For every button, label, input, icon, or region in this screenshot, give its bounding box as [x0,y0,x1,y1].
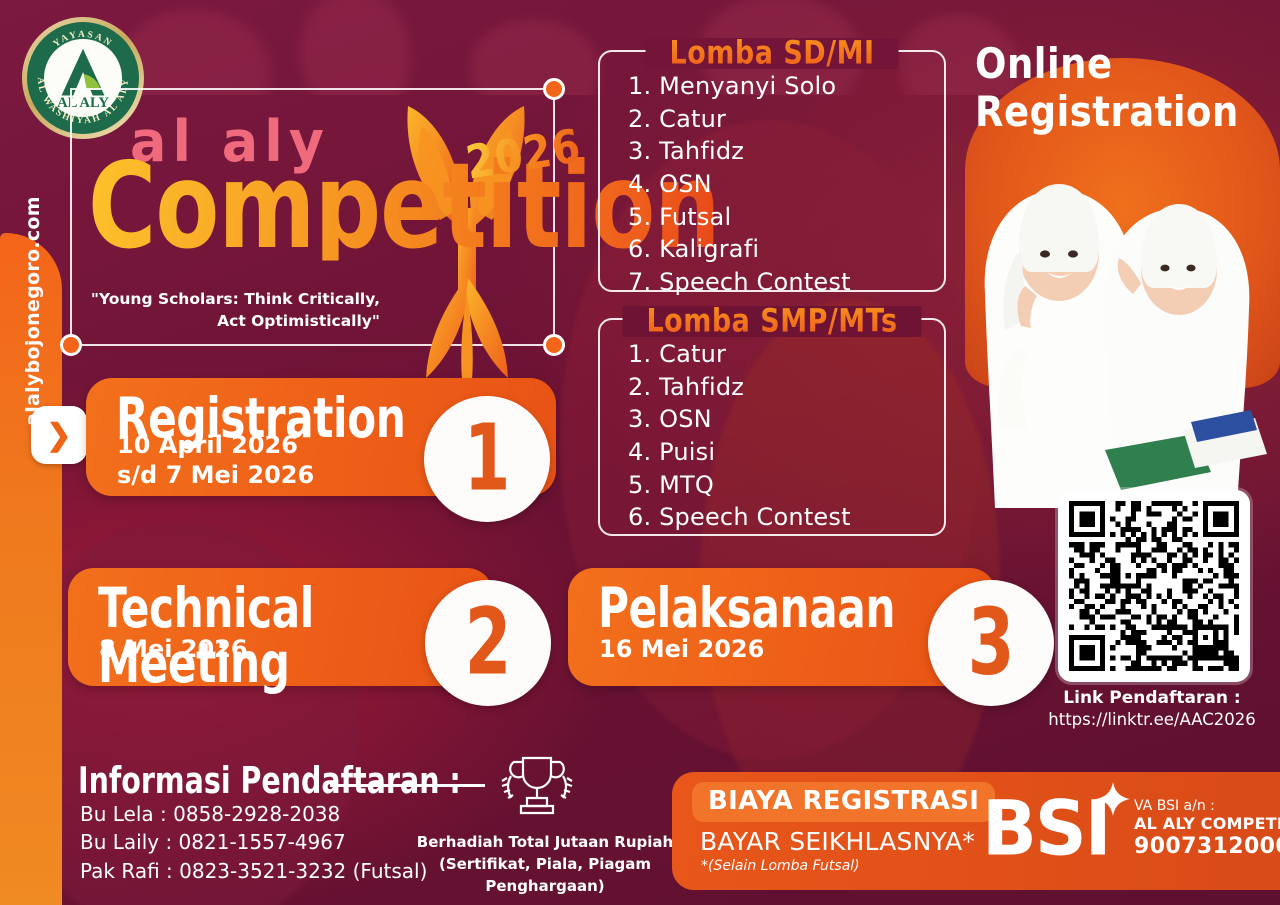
step-number: 2 [465,597,512,689]
step-number: 1 [464,413,511,505]
lomba-sd-heading: Lomba SD/MI [656,35,889,72]
timeline-date-line-2: s/d 7 Mei 2026 [117,460,314,490]
timeline-date-line-1: 8 Mei 2026 [99,634,248,664]
timeline-date-line-1: 16 Mei 2026 [599,634,764,664]
lomba-smp-heading: Lomba SMP/MTs [632,303,911,340]
bsi-logo: BSI [982,790,1110,866]
contact-row: Bu Lela : 0858-2928-2038 [80,800,427,828]
prize-line-1: Berhadiah Total Jutaan Rupiah [400,832,690,854]
list-item: 4. OSN [628,168,944,201]
payment-note: *(Selain Lomba Futsal) [701,858,860,874]
prize-note: Berhadiah Total Jutaan Rupiah (Sertifika… [400,832,690,897]
tagline-line-1: "Young Scholars: Think Critically, [80,288,380,310]
list-item: 1. Menyanyi Solo [628,70,944,103]
frame-dot-bottom-left [60,334,82,356]
payment-panel: BIAYA REGISTRASI BAYAR SEIKHLASNYA* *(Se… [672,772,1280,890]
poster-canvas: alalybojonegoro.com ❯ YAYASAN AL WASHIYA… [0,0,1280,905]
website-url-vertical[interactable]: alalybojonegoro.com [22,186,44,436]
list-item: 2. Catur [628,103,944,136]
step-number: 3 [968,597,1015,689]
list-item: 4. Puisi [628,436,944,469]
va-number: 900731200000191 [1134,834,1280,859]
list-item: 5. MTQ [628,469,944,502]
registration-link-box[interactable]: Link Pendaftaran : https://linktr.ee/AAC… [1036,688,1268,729]
list-item: 6. Speech Contest [628,501,944,534]
list-item: 1. Catur [628,338,944,371]
lomba-sd-panel: Lomba SD/MI 1. Menyanyi Solo 2. Catur 3.… [598,50,946,292]
registration-link-label: Link Pendaftaran : [1036,688,1268,708]
prize-line-2: (Sertifikat, Piala, Piagam Penghargaan) [400,854,690,898]
lomba-smp-list: 1. Catur 2. Tahfidz 3. OSN 4. Puisi 5. M… [600,320,944,548]
chevron-right-icon[interactable]: ❯ [31,406,87,464]
list-item: 3. OSN [628,403,944,436]
timeline-title: Pelaksanaan [598,580,895,635]
contact-list: Bu Lela : 0858-2928-2038 Bu Laily : 0821… [80,800,427,885]
online-registration-heading: Online Registration [975,40,1280,136]
contact-row: Bu Laily : 0821-1557-4967 [80,828,427,856]
contact-divider [330,784,485,787]
list-item: 3. Tahfidz [628,135,944,168]
contact-row: Pak Rafi : 0823-3521-3232 (Futsal) [80,857,427,885]
qr-canvas[interactable] [1069,501,1239,671]
lomba-sd-list: 1. Menyanyi Solo 2. Catur 3. Tahfidz 4. … [600,52,944,312]
registration-link-url[interactable]: https://linktr.ee/AAC2026 [1036,710,1268,729]
trophy-icon [487,752,587,830]
tagline-line-2: Act Optimistically" [80,310,380,332]
payment-amount: BAYAR SEIKHLASNYA* [700,827,975,856]
timeline-date-line-1: 10 April 2026 [117,430,314,460]
contact-heading: Informasi Pendaftaran : [78,760,461,803]
tagline: "Young Scholars: Think Critically, Act O… [80,288,380,333]
list-item: 7. Speech Contest [628,266,944,299]
timeline-step-number-1: 1 [424,396,550,522]
lomba-smp-panel: Lomba SMP/MTs 1. Catur 2. Tahfidz 3. OSN… [598,318,946,536]
va-name: AL ALY COMPETITION [1134,814,1280,833]
timeline-step-number-2: 2 [425,580,551,706]
payment-badge: BIAYA REGISTRASI [692,782,995,822]
list-item: 6. Kaligrafi [628,233,944,266]
registration-qr-code[interactable] [1058,490,1250,682]
va-label: VA BSI a/n : [1134,798,1280,814]
list-item: 5. Futsal [628,201,944,234]
bsi-star-icon [1096,782,1130,816]
list-item: 2. Tahfidz [628,371,944,404]
virtual-account-info: VA BSI a/n : AL ALY COMPETITION 90073120… [1134,798,1280,859]
